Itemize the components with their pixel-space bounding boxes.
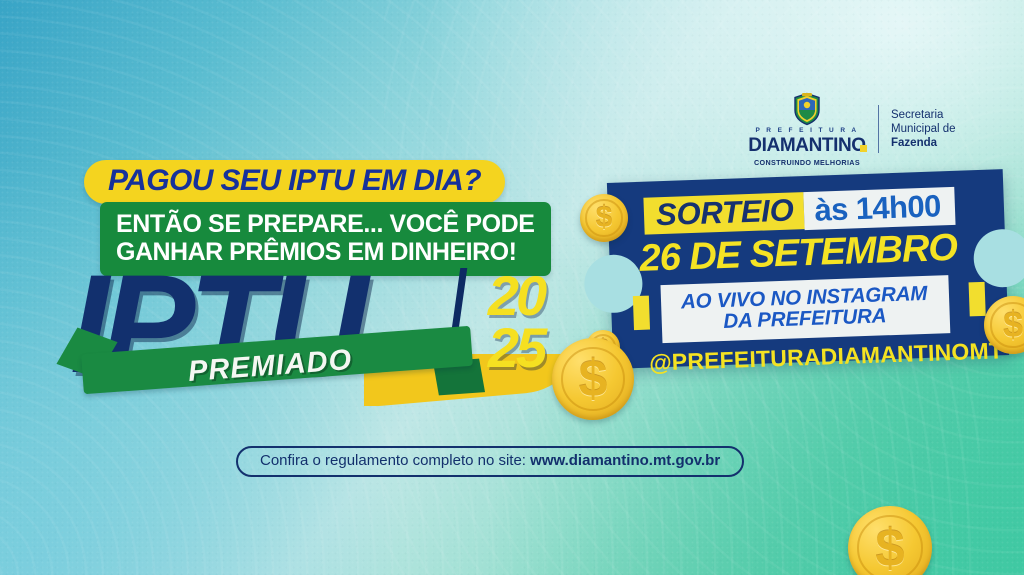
ticket-time-label: às 14h00: [803, 187, 955, 230]
logo-accent-square: [860, 145, 867, 152]
coin-center: $: [552, 338, 634, 420]
secretaria-block: Secretaria Municipal de Fazenda: [891, 108, 956, 151]
headline-sub-line-1: ENTÃO SE PREPARE... VOCÊ PODE: [116, 210, 535, 238]
city-name-text: DIAMANTINO: [748, 135, 865, 156]
premiado-ribbon: PREMIADO: [64, 330, 484, 398]
secretaria-line-2: Municipal de: [891, 122, 956, 136]
city-name: DIAMANTINO: [748, 136, 865, 156]
ticket-instagram-handle: @PREFEITURADIAMANTINOMT: [649, 337, 988, 376]
coin-ticket-left-top: $: [580, 194, 628, 242]
coin-symbol: $: [596, 203, 613, 233]
brand-divider: [878, 105, 879, 153]
iptu-premiado-logo: IPTU 20 25 PREMIADO: [64, 258, 584, 413]
logo-year-top: 20: [466, 270, 566, 322]
ticket-draw-label: SORTEIO: [643, 192, 804, 235]
coin-bottom-right: $: [848, 506, 932, 575]
ticket-live-box: AO VIVO NO INSTAGRAM DA PREFEITURA: [660, 275, 950, 343]
regulation-text: Confira o regulamento completo no site:: [260, 452, 526, 469]
ticket-tab-left: [633, 296, 650, 331]
city-tagline: CONSTRUINDO MELHORIAS: [748, 158, 866, 167]
coin-symbol: $: [1003, 307, 1023, 343]
ticket-tab-right: [969, 282, 986, 317]
coin-symbol: $: [875, 522, 904, 575]
brand-lockup: P R E F E I T U R A DIAMANTINO CONSTRUIN…: [748, 92, 956, 167]
ticket-date: 26 DE SETEMBRO: [639, 228, 984, 278]
regulation-footer[interactable]: Confira o regulamento completo no site: …: [236, 446, 744, 477]
regulation-site-url[interactable]: www.diamantino.mt.gov.br: [530, 452, 720, 469]
coat-of-arms-icon: [792, 92, 822, 126]
coin-symbol: $: [579, 353, 608, 405]
secretaria-line-3: Fazenda: [891, 136, 956, 150]
headline-question-text: PAGOU SEU IPTU EM DIA?: [108, 166, 481, 196]
secretaria-line-1: Secretaria: [891, 108, 956, 122]
headline-question-pill: PAGOU SEU IPTU EM DIA?: [84, 160, 505, 204]
prefeitura-logo: P R E F E I T U R A DIAMANTINO CONSTRUIN…: [748, 92, 866, 167]
draw-ticket: SORTEIO às 14h00 26 DE SETEMBRO AO VIVO …: [607, 169, 1009, 369]
promo-banner: P R E F E I T U R A DIAMANTINO CONSTRUIN…: [0, 0, 1024, 575]
